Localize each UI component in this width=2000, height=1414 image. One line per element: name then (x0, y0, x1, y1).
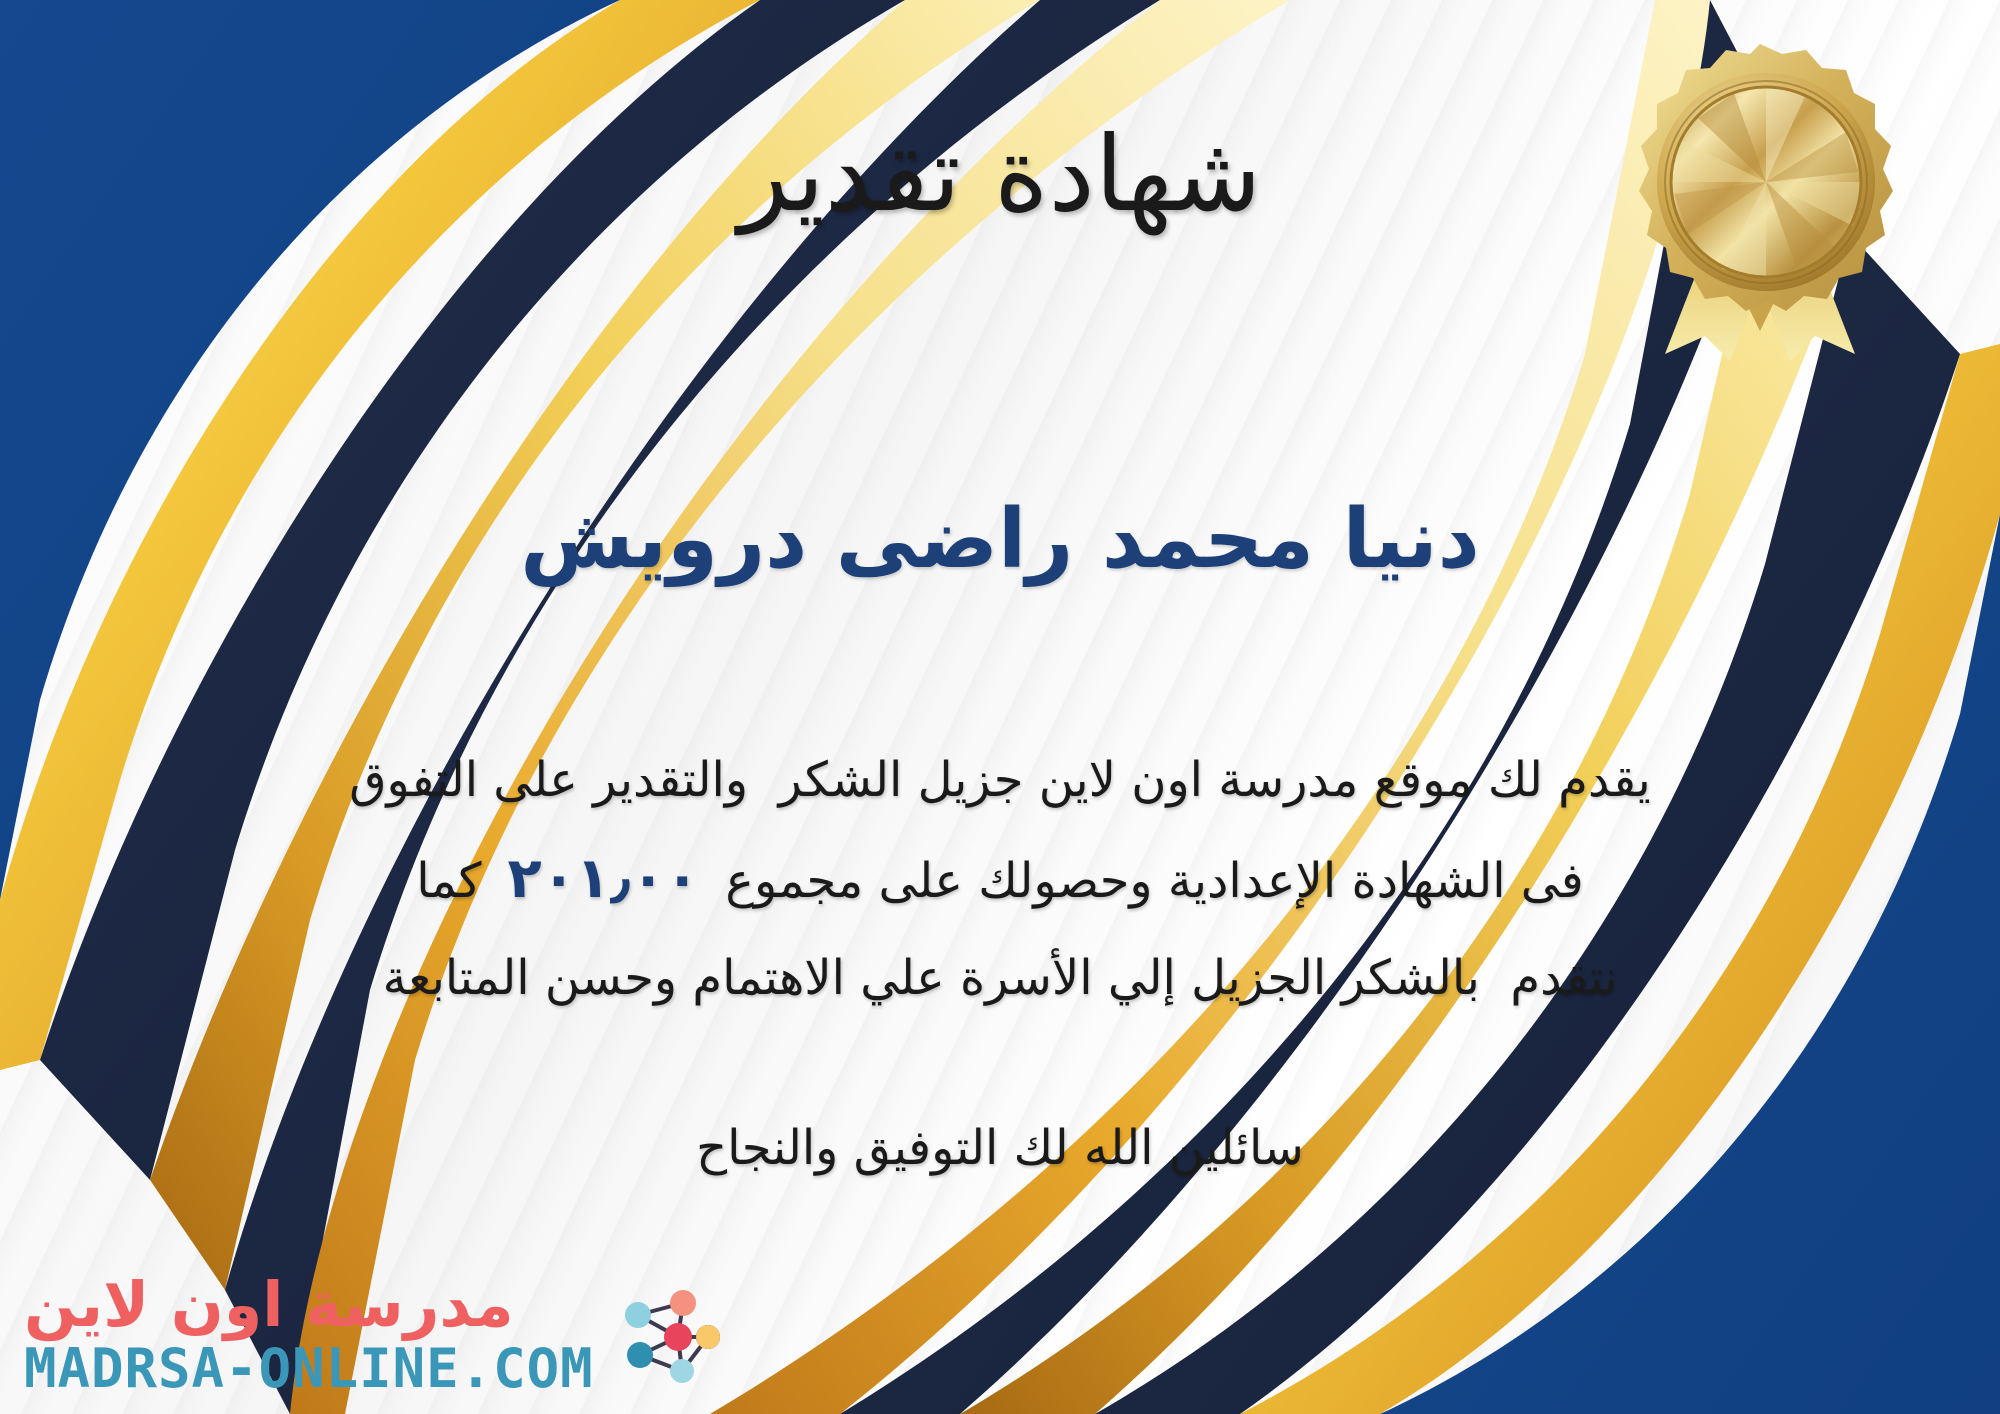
body-line-3: نتقدم بالشكر الجزيل إلي الأسرة علي الاهت… (120, 933, 1880, 1024)
body-line-2-prefix: فى الشهادة الإعدادية وحصولك على مجموع (725, 853, 1583, 909)
body-line-2: فى الشهادة الإعدادية وحصولك على مجموع٢٠١… (120, 826, 1880, 932)
network-nodes-icon (608, 1275, 728, 1395)
brand-logo: مدرسة اون لاين MADRSA-ONLINE.COM (24, 1274, 728, 1396)
certificate-content: شهادة تقدير دنيا محمد راضى درويش يقدم لك… (0, 0, 2000, 1414)
certificate-body-text: يقدم لك موقع مدرسة اون لاين جزيل الشكر و… (120, 735, 1880, 1024)
closing-line: سائلين الله لك التوفيق والنجاح (120, 1110, 1880, 1187)
body-line-2-suffix: كما (416, 853, 481, 909)
body-line-1: يقدم لك موقع مدرسة اون لاين جزيل الشكر و… (120, 735, 1880, 826)
certificate-title: شهادة تقدير (0, 120, 2000, 229)
brand-arabic-name: مدرسة اون لاين (24, 1274, 514, 1336)
total-score-value: ٢٠١٫٠٠ (481, 846, 725, 911)
brand-text-block: مدرسة اون لاين MADRSA-ONLINE.COM (24, 1274, 594, 1396)
recipient-name: دنيا محمد راضى درويش (0, 495, 2000, 585)
brand-website: MADRSA-ONLINE.COM (24, 1342, 594, 1396)
certificate-canvas: شهادة تقدير دنيا محمد راضى درويش يقدم لك… (0, 0, 2000, 1414)
